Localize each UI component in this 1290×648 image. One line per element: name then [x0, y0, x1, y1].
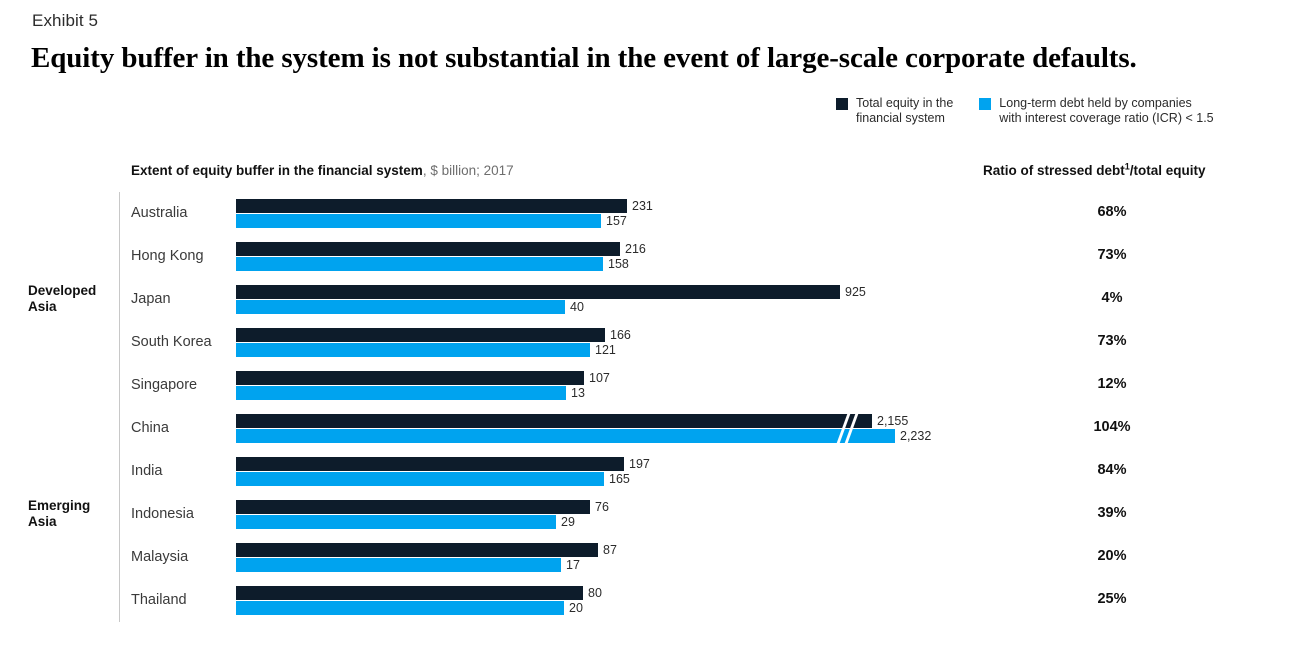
bar-total-equity	[236, 586, 583, 600]
bar-value-stressed-debt: 29	[561, 515, 575, 529]
bar-total-equity	[236, 242, 620, 256]
chart-row: Malaysia871720%	[0, 543, 1290, 573]
bar-value-stressed-debt: 121	[595, 343, 616, 357]
bar-value-total-equity: 80	[588, 586, 602, 600]
bar-stressed-debt	[236, 472, 604, 486]
bar-value-stressed-debt: 17	[566, 558, 580, 572]
bar-total-equity	[236, 285, 840, 299]
bar-value-total-equity: 87	[603, 543, 617, 557]
row-category-label: South Korea	[131, 334, 212, 350]
row-category-label: Indonesia	[131, 506, 194, 522]
bar-stressed-debt	[236, 601, 564, 615]
row-category-label: Thailand	[131, 592, 187, 608]
bar-value-total-equity: 197	[629, 457, 650, 471]
bar-value-stressed-debt: 13	[571, 386, 585, 400]
bar-stressed-debt	[236, 429, 895, 443]
bar-value-total-equity: 166	[610, 328, 631, 342]
bar-total-equity	[236, 328, 605, 342]
chart-row: India19716584%	[0, 457, 1290, 487]
row-category-label: Singapore	[131, 377, 197, 393]
bar-value-total-equity: 2,155	[877, 414, 908, 428]
row-category-label: China	[131, 420, 169, 436]
group-divider-line	[119, 192, 120, 407]
group-divider-line	[119, 407, 120, 622]
chart-row: Thailand802025%	[0, 586, 1290, 616]
bar-value-stressed-debt: 2,232	[900, 429, 931, 443]
ratio-value: 25%	[1020, 591, 1204, 607]
bar-total-equity	[236, 500, 590, 514]
ratio-value: 12%	[1020, 376, 1204, 392]
chart-row: Australia23115768%	[0, 199, 1290, 229]
bar-total-equity	[236, 199, 627, 213]
bar-stressed-debt	[236, 343, 590, 357]
bar-value-total-equity: 107	[589, 371, 610, 385]
row-category-label: Australia	[131, 205, 187, 221]
ratio-value: 4%	[1020, 290, 1204, 306]
chart-row: Hong Kong21615873%	[0, 242, 1290, 272]
ratio-value: 73%	[1020, 333, 1204, 349]
ratio-value: 39%	[1020, 505, 1204, 521]
ratio-value: 104%	[1020, 419, 1204, 435]
bar-value-stressed-debt: 20	[569, 601, 583, 615]
ratio-value: 68%	[1020, 204, 1204, 220]
bar-stressed-debt	[236, 214, 601, 228]
bar-value-stressed-debt: 165	[609, 472, 630, 486]
chart-row: China2,1552,232104%	[0, 414, 1290, 444]
bar-stressed-debt	[236, 386, 566, 400]
bar-value-total-equity: 231	[632, 199, 653, 213]
bar-stressed-debt	[236, 515, 556, 529]
bar-value-total-equity: 76	[595, 500, 609, 514]
chart-plot-area: Australia23115768%Hong Kong21615873%Japa…	[0, 0, 1290, 648]
bar-stressed-debt	[236, 558, 561, 572]
ratio-value: 20%	[1020, 548, 1204, 564]
bar-value-stressed-debt: 158	[608, 257, 629, 271]
chart-row: Indonesia762939%	[0, 500, 1290, 530]
bar-total-equity	[236, 543, 598, 557]
bar-total-equity	[236, 457, 624, 471]
chart-row: South Korea16612173%	[0, 328, 1290, 358]
bar-value-stressed-debt: 157	[606, 214, 627, 228]
bar-value-total-equity: 216	[625, 242, 646, 256]
bar-stressed-debt	[236, 257, 603, 271]
row-category-label: Japan	[131, 291, 171, 307]
bar-value-stressed-debt: 40	[570, 300, 584, 314]
group-label-emerging-asia: Emerging Asia	[28, 498, 90, 530]
ratio-value: 73%	[1020, 247, 1204, 263]
row-category-label: Malaysia	[131, 549, 188, 565]
row-category-label: Hong Kong	[131, 248, 204, 264]
group-label-developed-asia: Developed Asia	[28, 283, 96, 315]
bar-total-equity	[236, 371, 584, 385]
ratio-value: 84%	[1020, 462, 1204, 478]
bar-total-equity	[236, 414, 872, 428]
chart-row: Japan925404%	[0, 285, 1290, 315]
chart-row: Singapore1071312%	[0, 371, 1290, 401]
bar-stressed-debt	[236, 300, 565, 314]
row-category-label: India	[131, 463, 162, 479]
bar-value-total-equity: 925	[845, 285, 866, 299]
